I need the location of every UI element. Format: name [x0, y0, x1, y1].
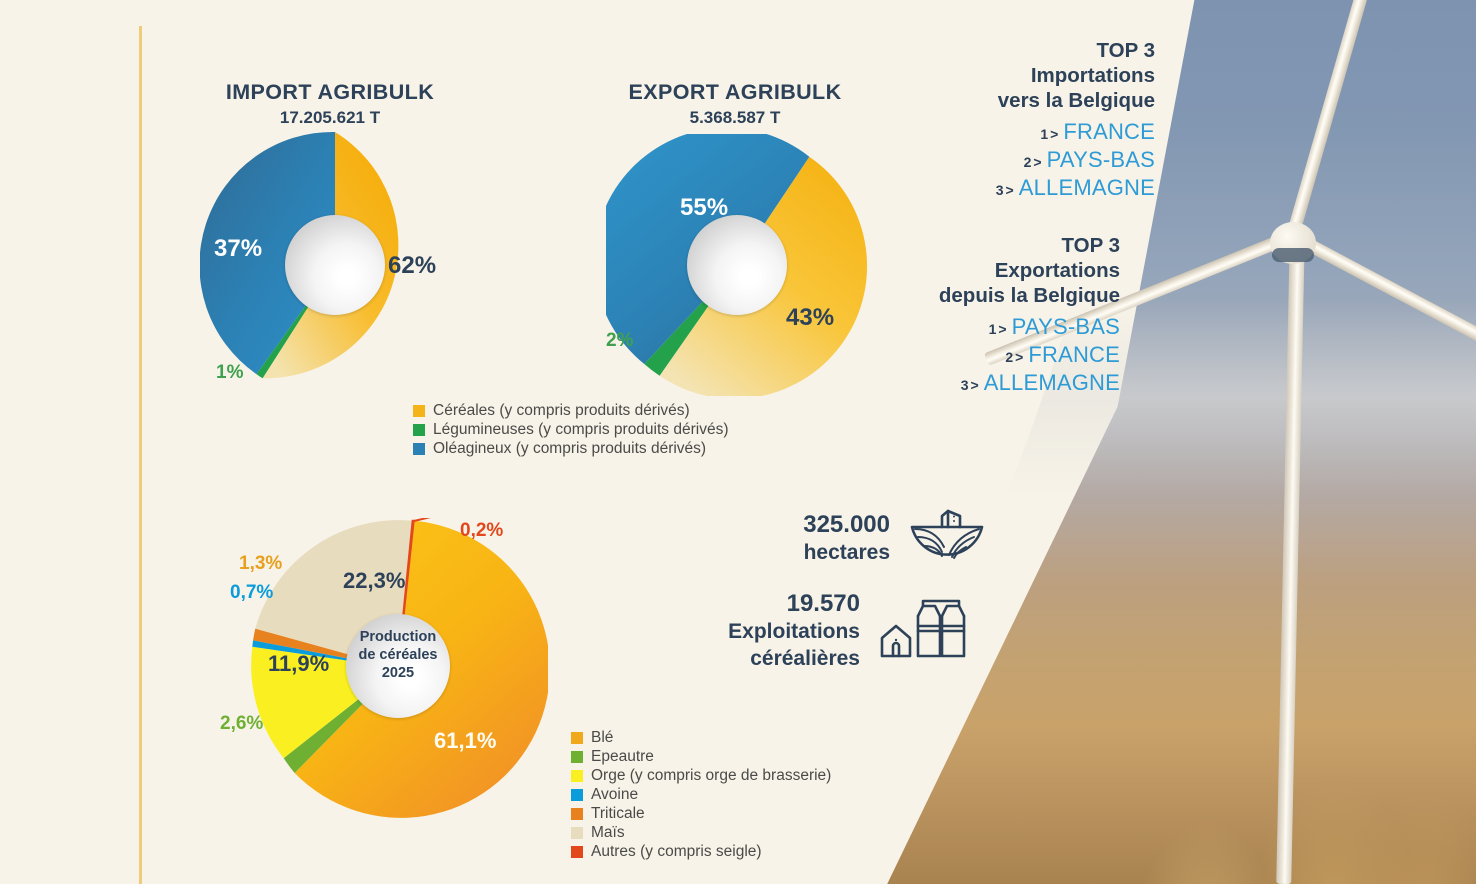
production-center-line1: Production: [346, 628, 450, 646]
legend-item: Avoine: [571, 786, 831, 804]
rank-number: 3: [996, 177, 1004, 203]
rank-number: 2: [1024, 149, 1032, 175]
production-legend: Blé Epeautre Orge (y compris orge de bra…: [571, 729, 831, 862]
country-name: ALLEMAGNE: [984, 370, 1120, 396]
legend-swatch-mais: [571, 827, 583, 839]
country-name: FRANCE: [1028, 342, 1120, 368]
legend-label-avoine: Avoine: [591, 786, 638, 804]
legend-item: Blé: [571, 729, 831, 747]
export-chart-title-block: EXPORT AGRIBULK 5.368.587 T: [585, 80, 885, 128]
legend-swatch-triticale: [571, 808, 583, 820]
country-name: PAYS-BAS: [1012, 314, 1120, 340]
top3-import-heading-line2: Importations: [930, 63, 1155, 88]
rank-number: 1: [1040, 121, 1048, 147]
legend-item: Orge (y compris orge de brasserie): [571, 767, 831, 785]
stat-hectares-number: 325.000: [760, 511, 890, 539]
top3-export-entry-3: 3 > ALLEMAGNE: [900, 370, 1120, 398]
export-donut-chart: 55% 43% 2%: [606, 134, 868, 396]
chevron-right-icon: >: [971, 372, 979, 398]
country-name: ALLEMAGNE: [1019, 175, 1155, 201]
top3-import-entry-2: 2 > PAYS-BAS: [930, 147, 1155, 175]
legend-label-orge: Orge (y compris orge de brasserie): [591, 767, 831, 785]
chevron-right-icon: >: [1006, 177, 1014, 203]
top3-import-entry-3: 3 > ALLEMAGNE: [930, 175, 1155, 203]
export-chart-title: EXPORT AGRIBULK: [585, 80, 885, 105]
import-donut-chart: 62% 37% 1%: [200, 130, 470, 400]
legend-label-mais: Maïs: [591, 824, 625, 842]
production-center-line2: de céréales: [346, 646, 450, 664]
trade-legend: Céréales (y compris produits dérivés) Lé…: [413, 402, 728, 459]
stat-exploitations-text: 19.570 Exploitations céréalières: [620, 590, 860, 672]
top3-import-block: TOP 3 Importations vers la Belgique 1 > …: [930, 38, 1155, 203]
chevron-right-icon: >: [1015, 344, 1023, 370]
top3-export-heading: TOP 3 Exportations depuis la Belgique: [900, 233, 1120, 308]
legend-swatch-autres: [571, 846, 583, 858]
legend-item: Céréales (y compris produits dérivés): [413, 402, 728, 420]
legend-item: Légumineuses (y compris produits dérivés…: [413, 421, 728, 439]
legend-label-triticale: Triticale: [591, 805, 645, 823]
import-chart-title: IMPORT AGRIBULK: [180, 80, 480, 105]
grain-silo-icon: [878, 598, 970, 665]
legend-swatch-avoine: [571, 789, 583, 801]
legend-label-autres: Autres (y compris seigle): [591, 843, 762, 861]
country-name: PAYS-BAS: [1047, 147, 1155, 173]
legend-swatch-cereales: [413, 405, 425, 417]
top3-import-entry-1: 1 > FRANCE: [930, 119, 1155, 147]
stat-exploitations-number: 19.570: [620, 590, 860, 618]
turbine-collar: [1272, 248, 1314, 262]
stat-hectares-label: hectares: [760, 539, 890, 566]
export-donut-hole: [687, 215, 787, 315]
production-center-line3: 2025: [346, 664, 450, 682]
legend-item: Maïs: [571, 824, 831, 842]
legend-swatch-legumineuses: [413, 424, 425, 436]
import-donut-hole: [285, 215, 385, 315]
legend-item: Triticale: [571, 805, 831, 823]
legend-label-legumineuses: Légumineuses (y compris produits dérivés…: [433, 421, 728, 439]
top3-export-heading-line1: TOP 3: [900, 233, 1120, 258]
infographic-root: IMPORT AGRIBULK 17.205.621 T: [0, 0, 1476, 884]
country-name: FRANCE: [1063, 119, 1155, 145]
legend-label-cereales: Céréales (y compris produits dérivés): [433, 402, 690, 420]
legend-label-epeautre: Epeautre: [591, 748, 654, 766]
legend-swatch-oleagineux: [413, 443, 425, 455]
chevron-right-icon: >: [1033, 149, 1041, 175]
stat-exploitations-label: Exploitations céréalières: [620, 618, 860, 672]
chevron-right-icon: >: [998, 316, 1006, 342]
legend-swatch-epeautre: [571, 751, 583, 763]
left-gold-divider: [139, 26, 142, 884]
top3-export-block: TOP 3 Exportations depuis la Belgique 1 …: [900, 233, 1120, 398]
chevron-right-icon: >: [1050, 121, 1058, 147]
legend-label-ble: Blé: [591, 729, 613, 747]
top3-import-heading-line1: TOP 3: [930, 38, 1155, 63]
legend-swatch-orge: [571, 770, 583, 782]
rank-number: 1: [989, 316, 997, 342]
stat-hectares-text: 325.000 hectares: [760, 511, 890, 566]
rank-number: 3: [961, 372, 969, 398]
top3-export-list: 1 > PAYS-BAS 2 > FRANCE 3 > ALLEMAGNE: [900, 314, 1120, 398]
stat-exploitations: 19.570 Exploitations céréalières: [620, 590, 970, 672]
top3-import-heading-line3: vers la Belgique: [930, 88, 1155, 113]
legend-swatch-ble: [571, 732, 583, 744]
top3-export-heading-line3: depuis la Belgique: [900, 283, 1120, 308]
top3-import-heading: TOP 3 Importations vers la Belgique: [930, 38, 1155, 113]
import-chart-title-block: IMPORT AGRIBULK 17.205.621 T: [180, 80, 480, 128]
legend-label-oleagineux: Oléagineux (y compris produits dérivés): [433, 440, 706, 458]
legend-item: Oléagineux (y compris produits dérivés): [413, 440, 728, 458]
stat-hectares: 325.000 hectares: [760, 505, 986, 572]
legend-item: Autres (y compris seigle): [571, 843, 831, 861]
rank-number: 2: [1005, 344, 1013, 370]
production-donut-chart: Production de céréales 2025 61,1% 2,6% 1…: [248, 518, 548, 818]
top3-export-entry-1: 1 > PAYS-BAS: [900, 314, 1120, 342]
top3-export-heading-line2: Exportations: [900, 258, 1120, 283]
export-chart-subtitle: 5.368.587 T: [585, 108, 885, 128]
top3-import-list: 1 > FRANCE 2 > PAYS-BAS 3 > ALLEMAGNE: [930, 119, 1155, 203]
production-center-caption: Production de céréales 2025: [346, 628, 450, 682]
farm-field-icon: [908, 505, 986, 572]
top3-export-entry-2: 2 > FRANCE: [900, 342, 1120, 370]
import-chart-subtitle: 17.205.621 T: [180, 108, 480, 128]
legend-item: Epeautre: [571, 748, 831, 766]
